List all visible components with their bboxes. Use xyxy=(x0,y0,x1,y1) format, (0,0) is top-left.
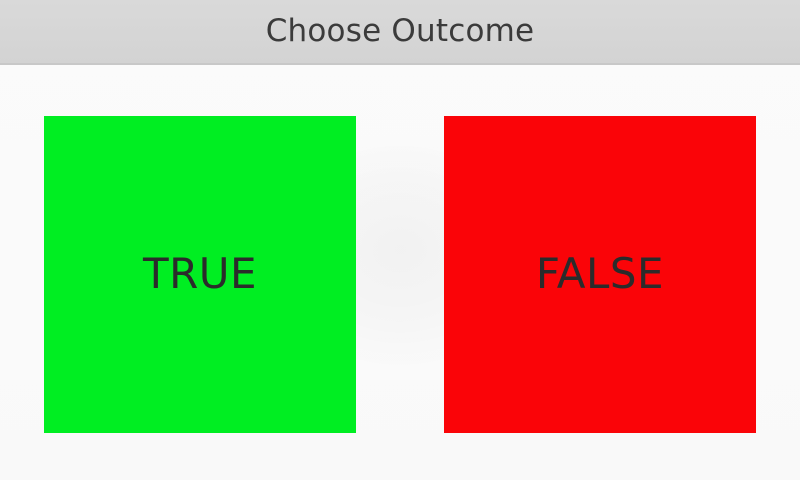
true-button[interactable]: TRUE xyxy=(44,116,356,433)
dialog-title: Choose Outcome xyxy=(266,16,535,47)
false-button[interactable]: FALSE xyxy=(444,116,756,433)
choice-area: TRUE FALSE xyxy=(0,65,800,480)
dialog-titlebar: Choose Outcome xyxy=(0,0,800,65)
true-button-label: TRUE xyxy=(143,253,257,295)
choose-outcome-dialog: Choose Outcome TRUE FALSE xyxy=(0,0,800,480)
false-button-label: FALSE xyxy=(536,253,664,295)
